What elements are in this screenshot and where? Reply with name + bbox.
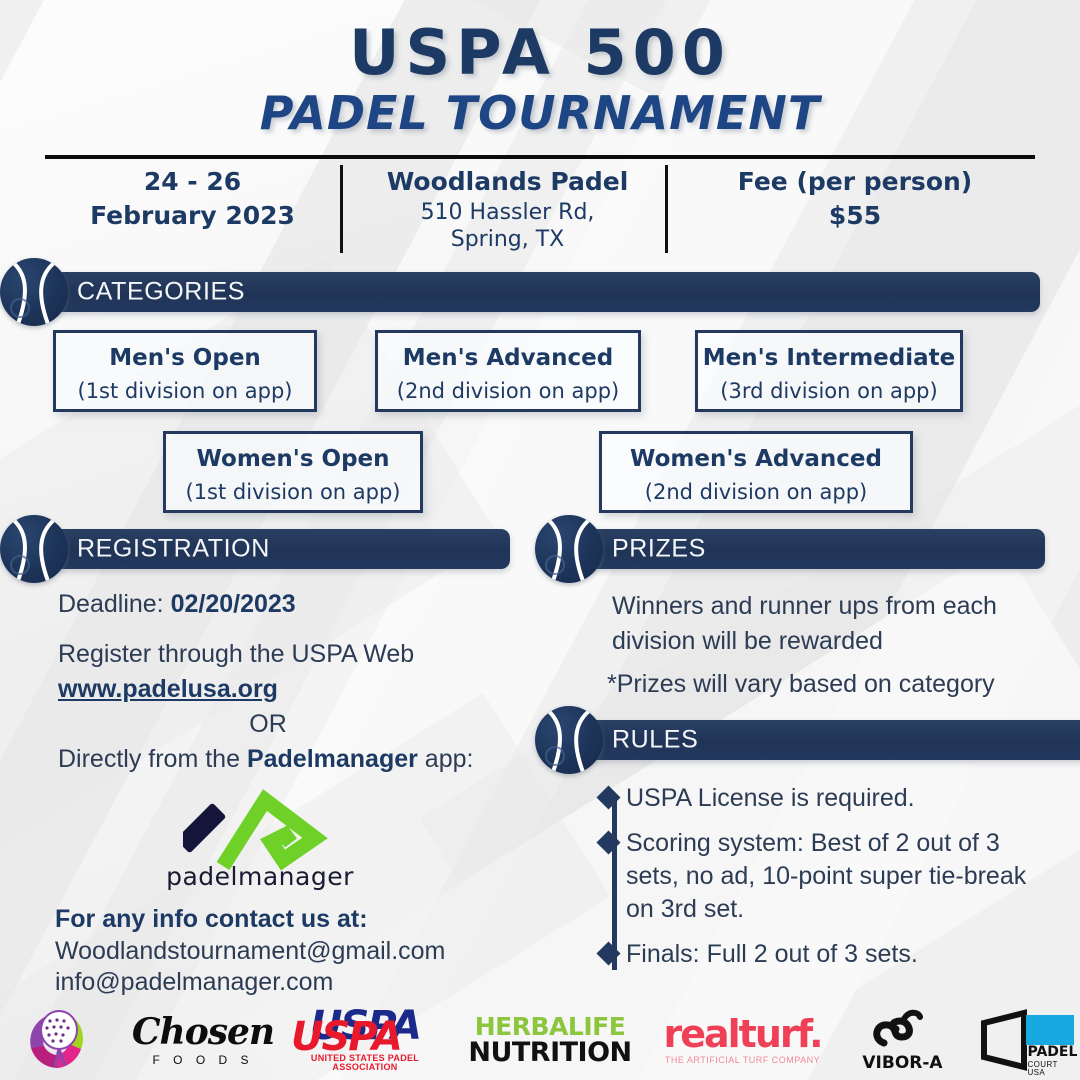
rule-text: Scoring system: Best of 2 out of 3 sets,…	[626, 827, 1050, 926]
sponsor-logo-herbalife: HERBALIFE NUTRITION	[470, 1000, 630, 1080]
fee-label: Fee (per person)	[675, 165, 1035, 199]
venue-address-line-2: Spring, TX	[345, 226, 670, 254]
categories-section-header: CATEGORIES	[0, 272, 1040, 312]
category-division: (1st division on app)	[166, 474, 420, 505]
app-name: Padelmanager	[247, 745, 418, 773]
info-bar-top-rule	[45, 155, 1035, 159]
registration-or: OR	[58, 708, 478, 741]
tennis-ball-icon	[0, 258, 68, 326]
diamond-bullet-icon	[596, 785, 620, 809]
snake-icon	[870, 1009, 934, 1049]
prizes-note: *Prizes will vary based on category	[607, 668, 1067, 701]
event-date-days: 24 - 26	[45, 165, 340, 199]
padelmanager-wordmark: padelmanager	[160, 862, 360, 891]
page-title: USPA 500	[0, 0, 1080, 84]
prizes-line-2: division will be rewarded	[612, 625, 1052, 658]
category-division: (1st division on app)	[56, 373, 314, 404]
sponsor-logo-realturf: realturf. THE ARTIFICIAL TURF COMPANY	[650, 1000, 835, 1080]
category-division: (2nd division on app)	[378, 373, 638, 404]
category-box-womens-open[interactable]: Women's Open (1st division on app)	[163, 431, 423, 513]
rules-header-label: RULES	[612, 726, 698, 755]
category-name: Women's Advanced	[602, 434, 910, 474]
sponsor-name: VIBOR-A	[862, 1055, 942, 1072]
tennis-ball-icon	[0, 515, 68, 583]
prizes-section-header: PRIZES	[535, 529, 1080, 569]
diamond-bullet-icon	[596, 830, 620, 854]
contact-email-1[interactable]: Woodlandstournament@gmail.com	[55, 935, 575, 968]
category-division: (3rd division on app)	[698, 373, 960, 404]
rules-header-bar: RULES	[590, 720, 1080, 760]
deadline-value: 02/20/2023	[171, 590, 296, 618]
sponsor-tagline: THE ARTIFICIAL TURF COMPANY	[663, 1056, 821, 1065]
rule-text: Finals: Full 2 out of 3 sets.	[626, 938, 1050, 971]
sponsor-name: Chosen	[132, 1014, 274, 1050]
event-date-column: 24 - 26 February 2023	[45, 165, 340, 233]
rule-item: Scoring system: Best of 2 out of 3 sets,…	[600, 827, 1050, 926]
sponsor-footer: Chosen F O O D S USPA USPA UNITED STATES…	[0, 1000, 1080, 1080]
prizes-header-label: PRIZES	[612, 535, 706, 564]
page-header: USPA 500 PADEL TOURNAMENT	[0, 0, 1080, 150]
categories-header-bar: CATEGORIES	[55, 272, 1040, 312]
registration-deadline: Deadline: 02/20/2023	[58, 588, 518, 621]
registration-section-header: REGISTRATION	[0, 529, 520, 569]
venue-address-line-1: 510 Hassler Rd,	[345, 199, 670, 227]
tennis-ball-icon	[535, 515, 603, 583]
page-subtitle: PADEL TOURNAMENT	[0, 84, 1080, 136]
event-info-bar: 24 - 26 February 2023 Woodlands Padel 51…	[45, 155, 1035, 255]
categories-header-label: CATEGORIES	[77, 278, 245, 307]
prizes-line-1: Winners and runner ups from each	[612, 590, 1052, 623]
sponsor-logo-chosen-foods: Chosen F O O D S	[128, 1000, 278, 1080]
rules-section-header: RULES	[535, 720, 1080, 760]
registration-header-bar: REGISTRATION	[55, 529, 510, 569]
app-line-prefix: Directly from the	[58, 745, 247, 773]
sponsor-logo-padel-court-usa: PADEL COURT USA	[975, 1000, 1080, 1080]
event-date-month: February 2023	[45, 199, 340, 233]
event-venue-column: Woodlands Padel 510 Hassler Rd, Spring, …	[345, 165, 670, 254]
category-name: Men's Open	[56, 333, 314, 373]
sponsor-logo-uspa: USPA USPA UNITED STATES PADEL ASSOCIATIO…	[285, 1000, 445, 1080]
tennis-ball-icon	[535, 706, 603, 774]
category-box-womens-advanced[interactable]: Women's Advanced (2nd division on app)	[599, 431, 913, 513]
contact-heading: For any info contact us at:	[55, 903, 535, 936]
rule-item: USPA License is required.	[600, 782, 1050, 815]
venue-name: Woodlands Padel	[345, 165, 670, 199]
category-division: (2nd division on app)	[602, 474, 910, 505]
sponsor-name-shadow: USPA	[291, 1019, 401, 1055]
registration-website-link[interactable]: www.padelusa.org	[58, 673, 538, 706]
rules-list: USPA License is required. Scoring system…	[600, 782, 1050, 983]
category-box-mens-intermediate[interactable]: Men's Intermediate (3rd division on app)	[695, 330, 963, 412]
category-box-mens-open[interactable]: Men's Open (1st division on app)	[53, 330, 317, 412]
registration-header-label: REGISTRATION	[77, 535, 270, 564]
sponsor-tagline: F O O D S	[132, 1054, 274, 1066]
sponsor-logo-vibor-a: VIBOR-A	[845, 1000, 960, 1080]
rule-item: Finals: Full 2 out of 3 sets.	[600, 938, 1050, 971]
fee-amount: $55	[675, 199, 1035, 233]
category-name: Women's Open	[166, 434, 420, 474]
info-bar-divider-1	[340, 165, 343, 253]
category-name: Men's Intermediate	[698, 333, 960, 373]
website-url[interactable]: www.padelusa.org	[58, 675, 278, 703]
rule-text: USPA License is required.	[626, 782, 1050, 815]
event-fee-column: Fee (per person) $55	[675, 165, 1035, 233]
sponsor-tagline: COURT USA	[1028, 1061, 1078, 1077]
sponsor-name: HERBALIFE	[468, 1014, 631, 1039]
sponsor-tagline: NUTRITION	[468, 1039, 631, 1066]
sponsor-logo-woodlands-padel	[8, 1000, 108, 1080]
registration-app-line: Directly from the Padelmanager app:	[58, 743, 558, 776]
diamond-bullet-icon	[596, 941, 620, 965]
app-line-suffix: app:	[418, 745, 474, 773]
deadline-label: Deadline:	[58, 590, 171, 618]
prizes-header-bar: PRIZES	[590, 529, 1045, 569]
contact-email-2[interactable]: info@padelmanager.com	[55, 966, 575, 999]
registration-web-line: Register through the USPA Web	[58, 638, 538, 671]
category-box-mens-advanced[interactable]: Men's Advanced (2nd division on app)	[375, 330, 641, 412]
category-name: Men's Advanced	[378, 333, 638, 373]
sponsor-name: PADEL	[1028, 1045, 1078, 1059]
sponsor-name: realturf.	[663, 1015, 821, 1053]
